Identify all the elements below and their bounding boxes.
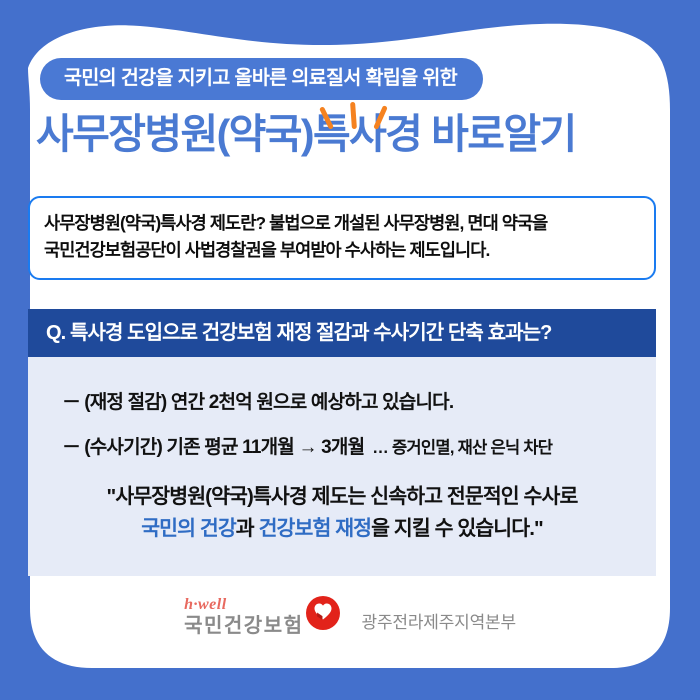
quote-highlight-finance: 건강보험 재정 xyxy=(259,517,372,540)
quote-tail: 을 지킬 수 있습니다." xyxy=(371,517,543,540)
poster-canvas: 국민의 건강을 지키고 올바른 의료질서 확립을 위한 사무장병원(약국)특사경… xyxy=(0,0,700,700)
logo-wordmark: h·well 국민건강보험 xyxy=(184,597,303,636)
definition-line-2: 국민건강보험공단이 사법경찰권을 부여받아 수사하는 제도입니다. xyxy=(44,237,640,264)
quote-conjunction: 과 xyxy=(236,517,259,540)
spark-icon xyxy=(318,100,410,134)
logo-name: 국민건강보험 xyxy=(184,616,303,636)
bullet-text: (재정 절감) 연간 2천억 원으로 예상하고 있습니다. xyxy=(84,392,453,413)
heart-icon xyxy=(306,596,340,630)
eyebrow-text: 국민의 건강을 지키고 올바른 의료질서 확립을 위한 xyxy=(64,69,457,89)
eyebrow-pill: 국민의 건강을 지키고 올바른 의료질서 확립을 위한 xyxy=(40,58,483,100)
question-banner: Q. 특사경 도입으로 건강보험 재정 절감과 수사기간 단축 효과는? xyxy=(28,309,656,357)
question-text: Q. 특사경 도입으로 건강보험 재정 절감과 수사기간 단축 효과는? xyxy=(46,323,551,343)
bullet-text: (수사기간) 기존 평균 11개월 → 3개월 xyxy=(84,437,364,458)
bullet-dash: － xyxy=(62,437,80,458)
bullet-dash: － xyxy=(62,392,80,413)
branch-name: 광주전라제주지역본부 xyxy=(362,608,516,633)
answer-bullet-list: －(재정 절감) 연간 2천억 원으로 예상하고 있습니다. －(수사기간) 기… xyxy=(62,393,552,483)
quote-highlight-health: 국민의 건강 xyxy=(141,517,236,540)
definition-box: 사무장병원(약국)특사경 제도란? 불법으로 개설된 사무장병원, 면대 약국을… xyxy=(28,196,656,280)
answer-panel: －(재정 절감) 연간 2천억 원으로 예상하고 있습니다. －(수사기간) 기… xyxy=(28,357,656,576)
quote-line-2: 국민의 건강과 건강보험 재정을 지킬 수 있습니다." xyxy=(28,513,656,545)
nhis-logo: h·well 국민건강보험 광주전라제주지역본부 xyxy=(184,596,516,636)
bullet-tail-text: … 증거인멸, 재산 은닉 차단 xyxy=(372,439,552,457)
logo-tagline: h·well xyxy=(184,597,227,613)
quote-block: "사무장병원(약국)특사경 제도는 신속하고 전문적인 수사로 국민의 건강과 … xyxy=(28,481,656,545)
quote-line-1: "사무장병원(약국)특사경 제도는 신속하고 전문적인 수사로 xyxy=(28,481,656,513)
answer-bullet-item: －(수사기간) 기존 평균 11개월 → 3개월… 증거인멸, 재산 은닉 차단 xyxy=(62,438,552,457)
footer-logo-area: h·well 국민건강보험 광주전라제주지역본부 xyxy=(0,596,700,636)
answer-bullet-item: －(재정 절감) 연간 2천억 원으로 예상하고 있습니다. xyxy=(62,393,552,412)
definition-line-1: 사무장병원(약국)특사경 제도란? 불법으로 개설된 사무장병원, 면대 약국을 xyxy=(44,210,640,237)
